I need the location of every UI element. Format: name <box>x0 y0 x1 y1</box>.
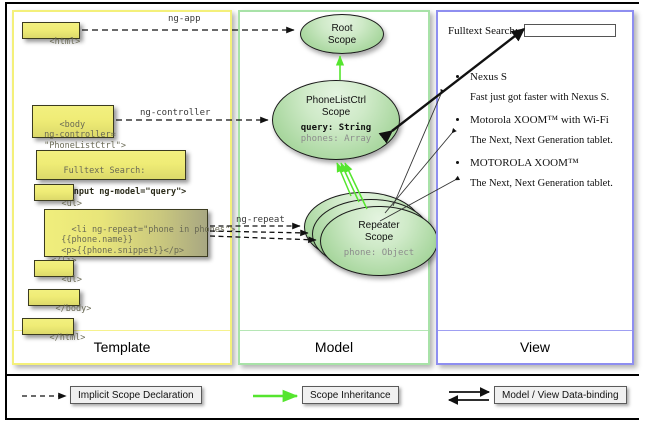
scope-prop-phones: phones: Array <box>273 134 399 145</box>
list-item[interactable]: Motorola XOOM™ with Wi-Fi The Next, Next… <box>456 113 626 148</box>
panel-view: Fulltext Search: Nexus S Fast just got f… <box>436 10 634 365</box>
bullet-icon <box>456 118 459 121</box>
scope-repeater-props: phone: Object <box>321 248 437 259</box>
code-text-search-markup: <input ng-model="query"> <box>63 187 186 197</box>
panel-model-label: Model <box>240 331 428 363</box>
legend-separator-rule <box>7 374 639 376</box>
view-search-input[interactable] <box>524 24 616 37</box>
code-text-body-close: </body> <box>55 304 91 314</box>
scope-phonelistctrl-title: PhoneListCtrl Scope <box>273 95 399 118</box>
code-box-ul-close: <ul> <box>34 260 74 277</box>
code-text-html-close: </html> <box>49 333 85 343</box>
legend-label-model-view-data-binding: Model / View Data-binding <box>494 386 627 404</box>
view-phone-list: Nexus S Fast just got faster with Nexus … <box>456 70 626 199</box>
scope-repeater: Repeater Scope phone: Object <box>320 206 438 276</box>
list-item-snippet: Fast just got faster with Nexus S. <box>470 91 626 105</box>
scope-root: Root Scope <box>300 14 384 54</box>
view-content: Fulltext Search: Nexus S Fast just got f… <box>438 12 632 331</box>
scope-repeater-title-line1: Repeater <box>358 220 399 231</box>
code-box-li-ng-repeat: <li ng-repeat="phone in phones"> {{phone… <box>44 209 208 257</box>
frame-bottom-rule <box>5 418 639 420</box>
scope-root-title: Root Scope <box>301 23 383 46</box>
scope-phonelistctrl-props: query: String phones: Array <box>273 123 399 145</box>
view-search-label: Fulltext Search: <box>448 25 518 37</box>
list-item-name: Nexus S <box>470 70 626 85</box>
code-box-search-input: Fulltext Search: <input ng-model="query"… <box>36 150 186 180</box>
code-box-body-open: <body ng-controller= "PhoneListCtrl"> <box>32 105 114 138</box>
panel-view-label: View <box>438 331 632 363</box>
code-box-body-close: </body> <box>28 289 80 306</box>
edge-label-ng-controller: ng-controller <box>140 108 210 118</box>
edge-label-ng-app: ng-app <box>168 14 201 24</box>
list-item-name: Motorola XOOM™ with Wi-Fi <box>470 113 626 128</box>
scope-prop-phone: phone: Object <box>321 248 437 259</box>
scope-repeater-title: Repeater Scope <box>321 220 437 243</box>
list-item-snippet: The Next, Next Generation tablet. <box>470 134 626 148</box>
scope-root-title-line1: Root <box>331 23 352 34</box>
panel-model: Model <box>238 10 430 365</box>
bullet-icon <box>456 75 459 78</box>
scope-repeater-title-line2: Scope <box>365 232 393 243</box>
list-item-name: MOTOROLA XOOM™ <box>470 156 626 171</box>
list-item[interactable]: Nexus S Fast just got faster with Nexus … <box>456 70 626 105</box>
code-box-html-open: <html> <box>22 22 80 39</box>
legend-label-scope-inheritance: Scope Inheritance <box>302 386 399 404</box>
view-search-row: Fulltext Search: <box>448 24 616 37</box>
list-item[interactable]: MOTOROLA XOOM™ The Next, Next Generation… <box>456 156 626 191</box>
code-text-ul-close: <ul> <box>61 275 81 285</box>
scope-prop-query: query: String <box>273 123 399 134</box>
code-text-html-open: <html> <box>49 37 80 47</box>
scope-phonelistctrl-title-line2: Scope <box>322 107 350 118</box>
scope-phonelistctrl-title-line1: PhoneListCtrl <box>306 95 366 106</box>
legend-label-implicit-scope-declaration: Implicit Scope Declaration <box>70 386 202 404</box>
code-box-html-close: </html> <box>22 318 74 335</box>
code-text-ul-open: <ul> <box>61 199 81 209</box>
bullet-icon <box>456 161 459 164</box>
scope-phonelistctrl: PhoneListCtrl Scope query: String phones… <box>272 80 400 160</box>
list-item-snippet: The Next, Next Generation tablet. <box>470 177 626 191</box>
code-text-search-label: Fulltext Search: <box>63 166 145 176</box>
code-text-body-open: <body ng-controller= "PhoneListCtrl"> <box>39 120 126 151</box>
edge-label-ng-repeat: ng-repeat <box>236 215 285 225</box>
scope-root-title-line2: Scope <box>328 35 356 46</box>
diagram-root: Template <html> <body ng-controller= "Ph… <box>0 0 645 425</box>
code-box-ul-open: <ul> <box>34 184 74 201</box>
